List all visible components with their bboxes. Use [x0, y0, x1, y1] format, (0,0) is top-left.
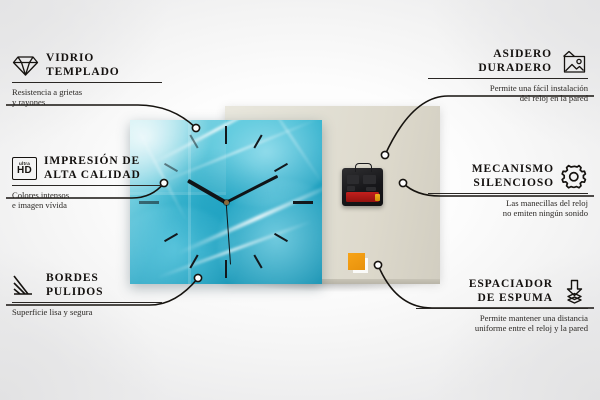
product-photo: [130, 106, 440, 291]
feature-divider: [416, 308, 588, 309]
picture-hanger-icon: [559, 49, 588, 74]
feature-description: Permite mantener una distancia uniforme …: [416, 313, 588, 334]
infographic-canvas: VIDRIO TEMPLADO Resistencia a grietas y …: [0, 0, 600, 400]
feature-title-line1: IMPRESIÓN DE: [44, 155, 141, 169]
feature-desc-line1: Resistencia a grietas: [12, 87, 162, 97]
mechanism-part-c: [347, 186, 355, 191]
feature-divider: [428, 193, 588, 194]
feature-desc-line1: Colores intensos: [12, 190, 162, 200]
feature-title-line2: TEMPLADO: [46, 66, 120, 80]
ultra-hd-icon-bottom: HD: [17, 166, 32, 176]
feature-bordes-pulidos: BORDES PULIDOS Superficie lisa y segura: [12, 272, 162, 317]
feature-title-line2: DE ESPUMA: [469, 292, 553, 306]
feature-desc-line1: Las manecillas del reloj: [428, 198, 588, 208]
feature-description: Resistencia a grietas y rayones: [12, 87, 162, 108]
feature-title-line2: ALTA CALIDAD: [44, 169, 141, 183]
feature-vidrio-templado: VIDRIO TEMPLADO Resistencia a grietas y …: [12, 52, 162, 107]
feature-header: ESPACIADOR DE ESPUMA: [416, 278, 588, 305]
feature-description: Superficie lisa y segura: [12, 307, 162, 317]
mechanism-part-a: [347, 175, 359, 184]
feature-title-line1: VIDRIO: [46, 52, 120, 66]
mechanism-part-b: [363, 175, 376, 184]
feature-divider: [12, 185, 162, 186]
feature-header: MECANISMO SILENCIOSO: [428, 163, 588, 190]
gear-icon: [561, 164, 588, 190]
feature-espaciador-espuma: ESPACIADOR DE ESPUMA Permite mantener un…: [416, 278, 588, 333]
feature-asidero-duradero: ASIDERO DURADERO Permite una fácil insta…: [428, 48, 588, 103]
clock-center-hub: [224, 200, 229, 205]
feature-desc-line2: no emiten ningún sonido: [428, 208, 588, 218]
feature-desc-line1: Permite una fácil instalación: [428, 83, 588, 93]
feature-title-line1: ASIDERO: [478, 48, 552, 62]
hour-marker-3: [293, 201, 313, 204]
feature-header: ultra HD IMPRESIÓN DE ALTA CALIDAD: [12, 155, 162, 182]
feature-title: IMPRESIÓN DE ALTA CALIDAD: [44, 155, 141, 182]
feature-desc-line2: uniforme entre el reloj y la pared: [416, 323, 588, 333]
feature-title-line1: BORDES: [46, 272, 103, 286]
feature-title-line1: MECANISMO: [472, 163, 554, 177]
feature-divider: [12, 82, 162, 83]
hour-marker-6: [225, 260, 227, 278]
feature-divider: [12, 302, 162, 303]
feature-title: ASIDERO DURADERO: [478, 48, 552, 75]
feature-title-line1: ESPACIADOR: [469, 278, 553, 292]
feature-desc-line2: del reloj en la pared: [428, 93, 588, 103]
feature-description: Las manecillas del reloj no emiten ningú…: [428, 198, 588, 219]
feature-description: Permite una fácil instalación del reloj …: [428, 83, 588, 104]
feature-header: VIDRIO TEMPLADO: [12, 52, 162, 79]
feature-mecanismo-silencioso: MECANISMO SILENCIOSO Las manecillas del …: [428, 163, 588, 218]
feature-title: BORDES PULIDOS: [46, 272, 103, 299]
polished-edges-icon: [12, 274, 39, 297]
hour-marker-12: [225, 126, 227, 144]
feature-impresion-alta-calidad: ultra HD IMPRESIÓN DE ALTA CALIDAD Color…: [12, 155, 162, 210]
clock-mechanism: [342, 168, 383, 206]
mechanism-battery: [346, 192, 379, 202]
feature-header: ASIDERO DURADERO: [428, 48, 588, 75]
feature-title-line2: PULIDOS: [46, 286, 103, 300]
feature-description: Colores intensos e imagen vívida: [12, 190, 162, 211]
feature-title: MECANISMO SILENCIOSO: [472, 163, 554, 190]
feature-desc-line1: Permite mantener una distancia: [416, 313, 588, 323]
mechanism-hanger-loop: [355, 163, 372, 172]
feature-desc-line2: y rayones: [12, 97, 162, 107]
feature-desc-line1: Superficie lisa y segura: [12, 307, 162, 317]
feature-title-line2: SILENCIOSO: [472, 177, 554, 191]
ultra-hd-icon: ultra HD: [12, 157, 37, 180]
feature-divider: [428, 78, 588, 79]
foam-spacer-icon: [560, 279, 588, 305]
foam-spacer-piece: [348, 253, 365, 270]
feature-desc-line2: e imagen vívida: [12, 200, 162, 210]
feature-title: VIDRIO TEMPLADO: [46, 52, 120, 79]
diamond-icon: [12, 54, 39, 77]
feature-title-line2: DURADERO: [478, 62, 552, 76]
mechanism-part-d: [366, 187, 376, 191]
feature-title: ESPACIADOR DE ESPUMA: [469, 278, 553, 305]
feature-header: BORDES PULIDOS: [12, 272, 162, 299]
